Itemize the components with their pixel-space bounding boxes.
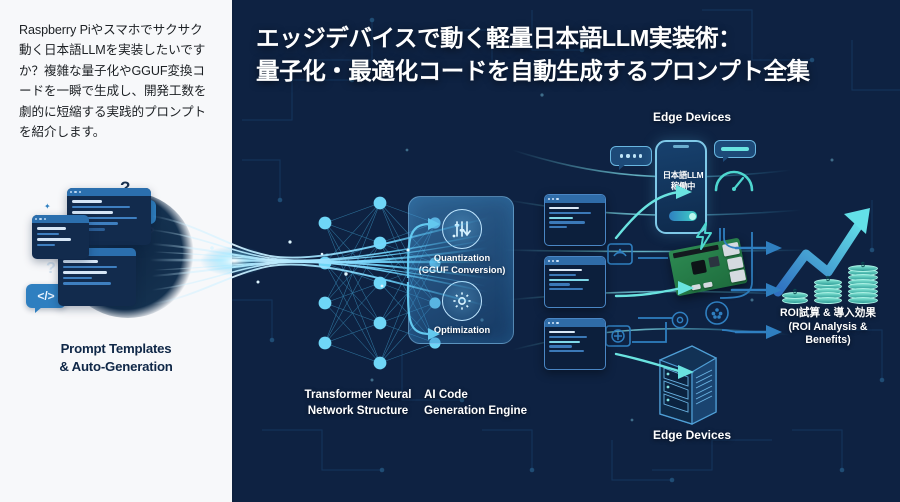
lightning-bolt-icon: [694, 222, 714, 250]
title-line-1: エッジデバイスで動く軽量日本語LLM実装術：: [256, 22, 876, 55]
sparkle-icon: ✦: [44, 202, 51, 211]
window-titlebar: [67, 188, 151, 196]
coin-symbol: $: [849, 262, 877, 269]
prompt-templates-illustration: ? </> ? ? ? ? ✦ ✦: [18, 170, 218, 340]
intro-paragraph: Raspberry Piやスマホでサクサク動く日本語LLMを実装したいですか？複…: [19, 20, 215, 142]
chat-bubble-dots: [610, 146, 652, 166]
code-card: [544, 318, 606, 370]
left-intro-panel: Raspberry Piやスマホでサクサク動く日本語LLMを実装したいですか？複…: [0, 0, 232, 502]
edge-devices-bottom-label: Edge Devices: [620, 428, 764, 444]
question-mark-floating: ?: [46, 260, 56, 278]
coin-symbol: $: [815, 276, 841, 283]
code-card: [544, 194, 606, 246]
window-body: [32, 223, 89, 250]
coin: $: [814, 279, 842, 286]
code-glyph: </>: [37, 289, 54, 303]
settings-gear-icon: [670, 310, 690, 330]
code-card: [544, 256, 606, 308]
code-card-body: [545, 327, 605, 356]
code-card-body: [545, 265, 605, 294]
coin: [814, 297, 842, 304]
window-body: [58, 256, 136, 289]
coin: $: [848, 265, 878, 272]
engine-caption: AI Code Generation Engine: [424, 387, 546, 418]
coin: [848, 297, 878, 304]
page-title: エッジデバイスで動く軽量日本語LLM実装術： 量子化・最適化コードを自動生成する…: [256, 22, 876, 88]
code-window: [32, 215, 89, 259]
roi-label: ROI試算 & 導入効果 (ROI Analysis & Benefits): [762, 307, 894, 348]
code-card-body: [545, 203, 605, 232]
phone-notch: [673, 145, 689, 148]
prompt-templates-label: Prompt Templates & Auto-Generation: [0, 340, 232, 376]
infographic-screenshot: エッジデバイスで動く軽量日本語LLM実装術： 量子化・最適化コードを自動生成する…: [0, 0, 900, 502]
title-line-2: 量子化・最適化コードを自動生成するプロンプト全集: [256, 55, 876, 88]
neural-network-caption: Transformer Neural Network Structure: [288, 387, 428, 418]
edge-devices-top-label: Edge Devices: [612, 110, 772, 126]
coin-stack-medium: $: [814, 281, 842, 304]
engine-input-arrows: [400, 200, 460, 360]
typing-dots-icon: [611, 147, 651, 165]
code-card-titlebar: [545, 195, 605, 203]
coin-stack-large: $: [848, 267, 878, 304]
code-card-titlebar: [545, 319, 605, 327]
infographic-panel: エッジデバイスで動く軽量日本語LLM実装術： 量子化・最適化コードを自動生成する…: [232, 0, 900, 502]
raspberry-pi-logo-icon: [704, 300, 730, 326]
code-card-titlebar: [545, 257, 605, 265]
window-titlebar: [32, 215, 89, 223]
deploy-arrows: [610, 168, 740, 428]
chat-bubble-message: [714, 140, 756, 158]
